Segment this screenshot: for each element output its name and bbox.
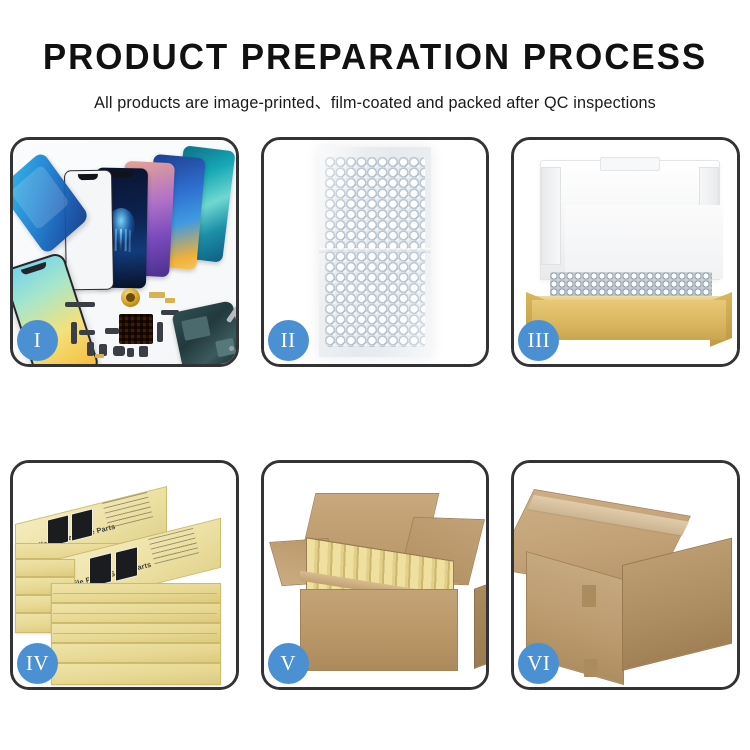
phone-notch-icon	[110, 171, 133, 177]
spare-parts-group	[65, 288, 239, 367]
phone-notch-icon	[21, 262, 48, 276]
carton-front-panel	[300, 589, 458, 671]
flex-cable-part	[79, 330, 95, 335]
bubble-wrap-pouch	[319, 147, 431, 357]
process-row-bottom: Mobile Phone Spare Parts Mobile Phone Sp…	[10, 460, 740, 690]
open-shipping-carton	[278, 493, 480, 671]
plastic-sheen	[319, 147, 431, 357]
box-edge-line	[53, 593, 217, 594]
box-printed-screen	[115, 546, 138, 582]
retail-box-slab	[51, 663, 221, 685]
step-panel-6[interactable]: VI	[511, 460, 740, 690]
speaker-part	[113, 346, 125, 356]
retail-box-slab	[51, 643, 221, 663]
phone-notch-icon	[78, 174, 98, 180]
carton-seam-tab	[582, 585, 596, 607]
tweezers-tool	[236, 319, 239, 338]
step-panel-4[interactable]: Mobile Phone Spare Parts Mobile Phone Sp…	[10, 460, 239, 690]
step-panel-2[interactable]: II	[261, 137, 490, 367]
carton-seam-tab	[584, 659, 597, 677]
step-badge-2: II	[268, 320, 309, 361]
gold-contact-pad	[149, 292, 165, 298]
mailer-lid-flap-left	[541, 167, 561, 265]
gold-contact-pad	[165, 298, 175, 303]
connector-part	[87, 342, 94, 356]
carton-side-panel	[474, 577, 490, 669]
phone-back-housing	[171, 300, 238, 367]
flex-cable-part	[157, 322, 163, 342]
box-edge-line	[53, 613, 217, 614]
button-part	[139, 346, 148, 357]
foam-padding	[565, 205, 723, 279]
page-subtitle: All products are image-printed、film-coat…	[0, 78, 750, 113]
process-steps-grid: I II	[10, 137, 740, 690]
retail-box-slab	[15, 559, 75, 577]
box-edge-line	[53, 633, 217, 634]
step-panel-1[interactable]: I	[10, 137, 239, 367]
earpiece-mesh-part	[65, 302, 95, 307]
step-panel-3[interactable]: III	[511, 137, 740, 367]
step-badge-5: V	[268, 643, 309, 684]
ic-chip-grid-part	[119, 314, 153, 344]
screw-part	[237, 352, 239, 357]
sealed-shipping-carton	[526, 489, 736, 677]
page-title: PRODUCT PREPARATION PROCESS	[11, 0, 739, 78]
flex-cable-part	[105, 328, 119, 334]
process-row-top: I II	[10, 137, 740, 367]
sim-tray-part	[127, 348, 134, 357]
screw-part	[229, 346, 234, 351]
header: PRODUCT PREPARATION PROCESS All products…	[0, 0, 750, 113]
open-mailer-box	[526, 160, 732, 350]
step-panel-5[interactable]: V	[261, 460, 490, 690]
mailer-lid-tab	[600, 157, 660, 171]
step-badge-1: I	[17, 320, 58, 361]
step-badge-4: IV	[17, 643, 58, 684]
mailer-box-front	[532, 300, 726, 340]
mailer-lid	[540, 160, 720, 280]
gold-contact-pad	[95, 354, 104, 358]
vibration-motor-part	[121, 288, 140, 307]
flex-cable-part	[71, 322, 77, 344]
box-printed-screen	[71, 508, 93, 541]
